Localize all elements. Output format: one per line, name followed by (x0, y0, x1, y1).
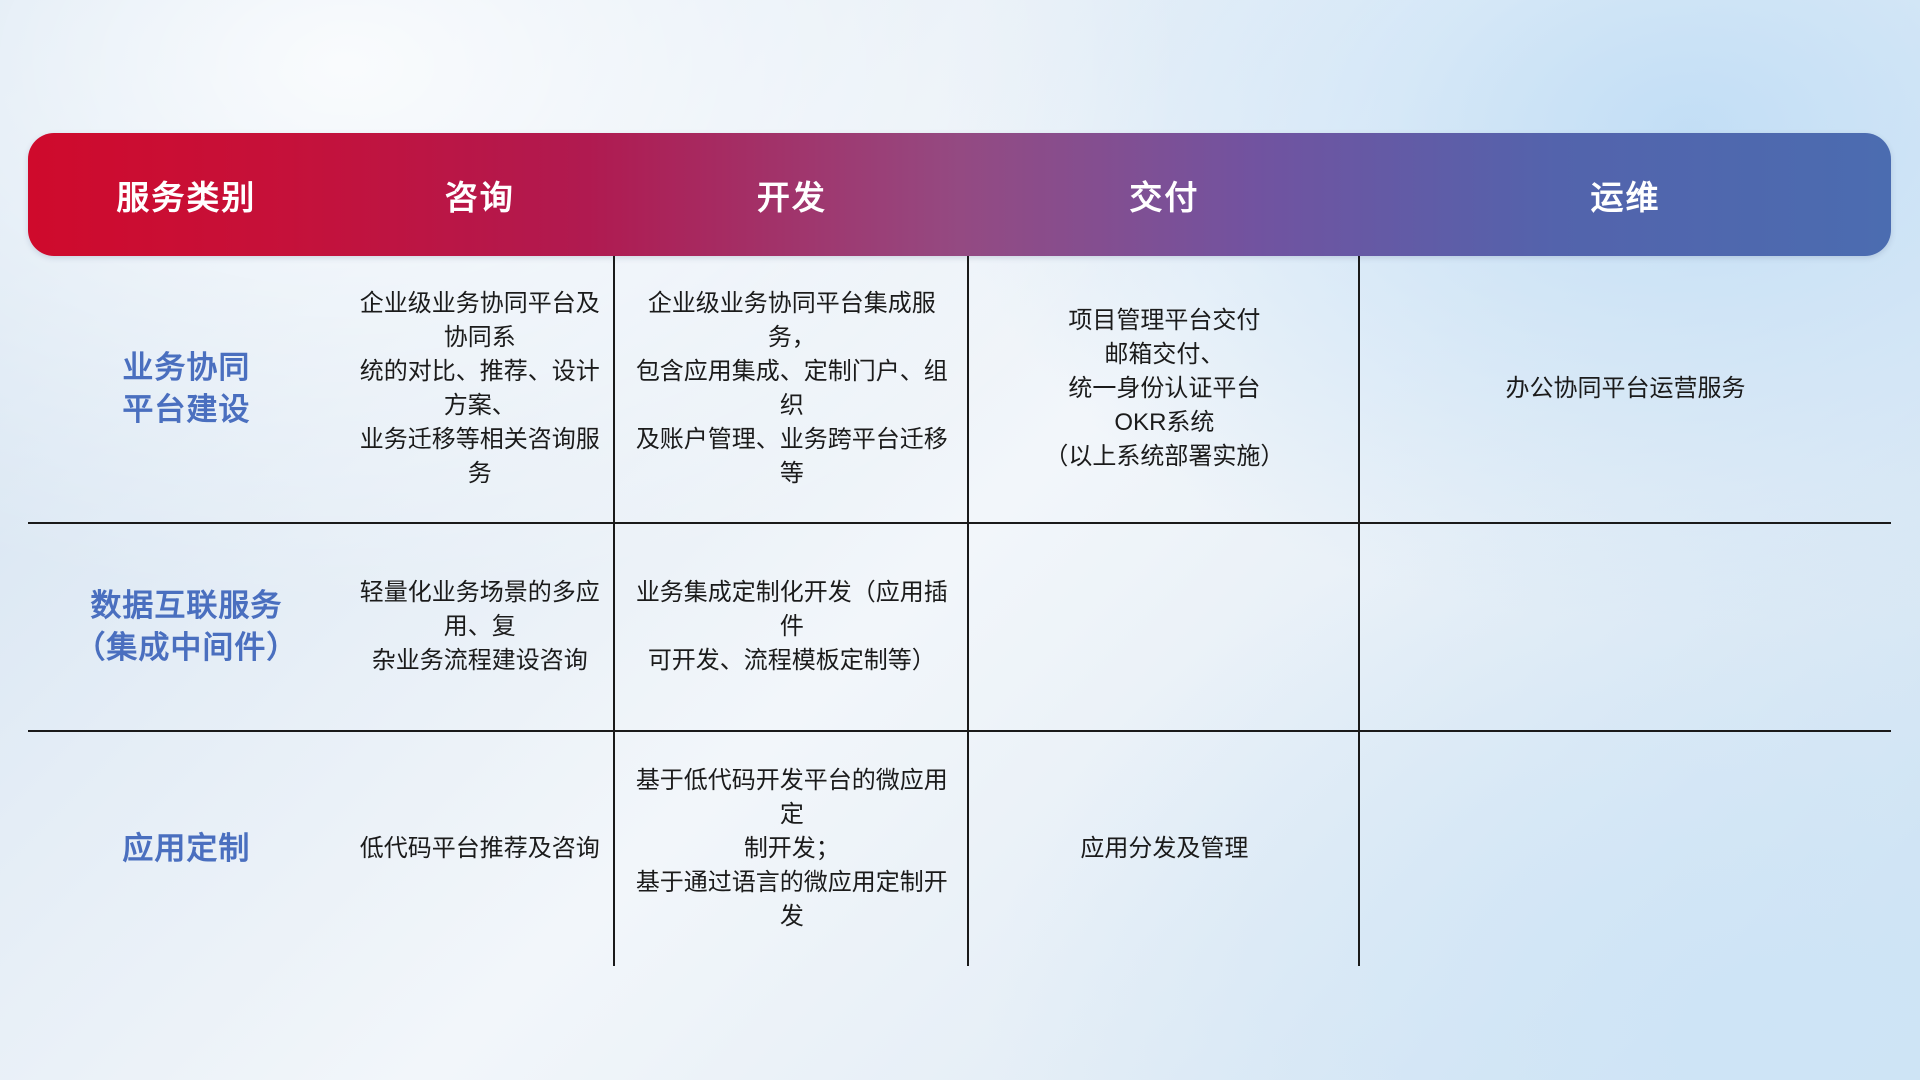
cell-development: 业务集成定制化开发（应用插件 可开发、流程模板定制等） (615, 524, 969, 730)
row-category-label: 数据互联服务 （集成中间件） (74, 585, 298, 669)
column-header-operations: 运维 (1360, 133, 1891, 256)
column-header-consulting-label: 咨询 (445, 171, 515, 219)
column-header-category-label: 服务类别 (116, 171, 256, 219)
column-header-delivery-label: 交付 (1129, 171, 1199, 219)
cell-operations (1360, 732, 1891, 966)
cell-consulting-text: 企业级业务协同平台及协同系 统的对比、推荐、设计方案、 业务迁移等相关咨询服务 (359, 287, 601, 491)
row-category-cell: 数据互联服务 （集成中间件） (28, 524, 345, 730)
column-header-development: 开发 (615, 133, 969, 256)
column-header-consulting: 咨询 (345, 133, 615, 256)
column-header-delivery: 交付 (969, 133, 1360, 256)
cell-delivery-text: 应用分发及管理 (1080, 832, 1248, 866)
cell-delivery: 项目管理平台交付 邮箱交付、 统一身份认证平台 OKR系统 （以上系统部署实施） (969, 256, 1360, 522)
cell-delivery (969, 524, 1360, 730)
row-category-label: 应用定制 (122, 828, 250, 870)
cell-consulting-text: 低代码平台推荐及咨询 (360, 832, 600, 866)
cell-operations: 办公协同平台运营服务 (1360, 256, 1891, 522)
cell-consulting: 轻量化业务场景的多应用、复 杂业务流程建设咨询 (345, 524, 615, 730)
cell-development-text: 基于低代码开发平台的微应用定 制开发； 基于通过语言的微应用定制开发 (629, 764, 955, 934)
column-header-category: 服务类别 (28, 133, 345, 256)
row-category-label: 业务协同 平台建设 (122, 347, 250, 431)
cell-development: 基于低代码开发平台的微应用定 制开发； 基于通过语言的微应用定制开发 (615, 732, 969, 966)
column-header-operations-label: 运维 (1590, 171, 1660, 219)
cell-development-text: 业务集成定制化开发（应用插件 可开发、流程模板定制等） (629, 576, 955, 678)
cell-operations-text: 办公协同平台运营服务 (1505, 372, 1745, 406)
cell-delivery-text: 项目管理平台交付 邮箱交付、 统一身份认证平台 OKR系统 （以上系统部署实施） (1044, 304, 1284, 474)
table-row: 业务协同 平台建设 企业级业务协同平台及协同系 统的对比、推荐、设计方案、 业务… (28, 256, 1891, 524)
table-row: 应用定制 低代码平台推荐及咨询 基于低代码开发平台的微应用定 制开发； 基于通过… (28, 732, 1891, 966)
cell-development-text: 企业级业务协同平台集成服务， 包含应用集成、定制门户、组织 及账户管理、业务跨平… (629, 287, 955, 491)
cell-consulting: 低代码平台推荐及咨询 (345, 732, 615, 966)
table-header-row: 服务类别 咨询 开发 交付 运维 (28, 133, 1891, 256)
cell-operations (1360, 524, 1891, 730)
slide-canvas: 服务类别 咨询 开发 交付 运维 业务协同 平台建设 (0, 0, 1920, 1080)
row-category-cell: 业务协同 平台建设 (28, 256, 345, 522)
column-header-development-label: 开发 (757, 171, 827, 219)
cell-development: 企业级业务协同平台集成服务， 包含应用集成、定制门户、组织 及账户管理、业务跨平… (615, 256, 969, 522)
cell-consulting-text: 轻量化业务场景的多应用、复 杂业务流程建设咨询 (359, 576, 601, 678)
table-body: 业务协同 平台建设 企业级业务协同平台及协同系 统的对比、推荐、设计方案、 业务… (28, 256, 1891, 966)
table-row: 数据互联服务 （集成中间件） 轻量化业务场景的多应用、复 杂业务流程建设咨询 业… (28, 524, 1891, 732)
service-category-table: 服务类别 咨询 开发 交付 运维 业务协同 平台建设 (28, 133, 1891, 963)
cell-delivery: 应用分发及管理 (969, 732, 1360, 966)
cell-consulting: 企业级业务协同平台及协同系 统的对比、推荐、设计方案、 业务迁移等相关咨询服务 (345, 256, 615, 522)
row-category-cell: 应用定制 (28, 732, 345, 966)
